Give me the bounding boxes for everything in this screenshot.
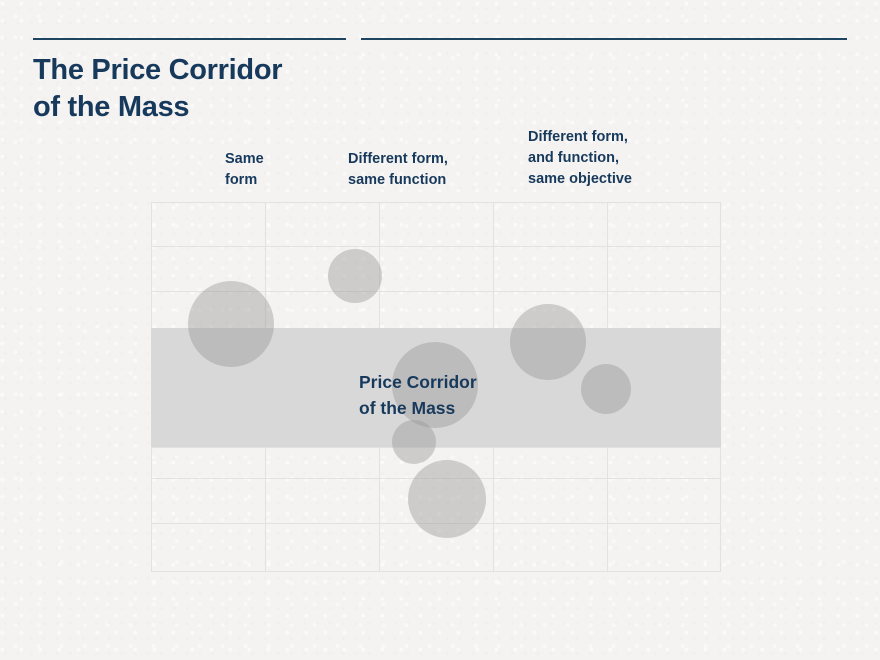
grid-line-horizontal-0 — [151, 202, 721, 203]
grid-line-horizontal-7 — [151, 571, 721, 572]
grid-line-horizontal-1 — [151, 246, 721, 247]
bubble-5 — [408, 460, 486, 538]
column-header-different-form-same-function: Different form, same function — [348, 149, 448, 191]
column-header-different-form-function-objective: Different form, and function, same objec… — [528, 127, 632, 190]
bubble-3 — [392, 342, 478, 428]
header-rule-left — [33, 38, 346, 40]
page-title: The Price Corridor of the Mass — [33, 52, 453, 126]
bubble-7 — [581, 364, 631, 414]
bubble-2 — [328, 249, 382, 303]
header-rule-right — [361, 38, 847, 40]
price-corridor-chart: Price Corridor of the Mass — [151, 202, 721, 571]
bubble-6 — [510, 304, 586, 380]
grid-line-horizontal-4 — [151, 447, 721, 448]
bubble-1 — [188, 281, 274, 367]
slide-canvas: The Price Corridor of the Mass Same form… — [0, 0, 880, 660]
bubble-4 — [392, 420, 436, 464]
column-header-same-form: Same form — [225, 149, 264, 191]
